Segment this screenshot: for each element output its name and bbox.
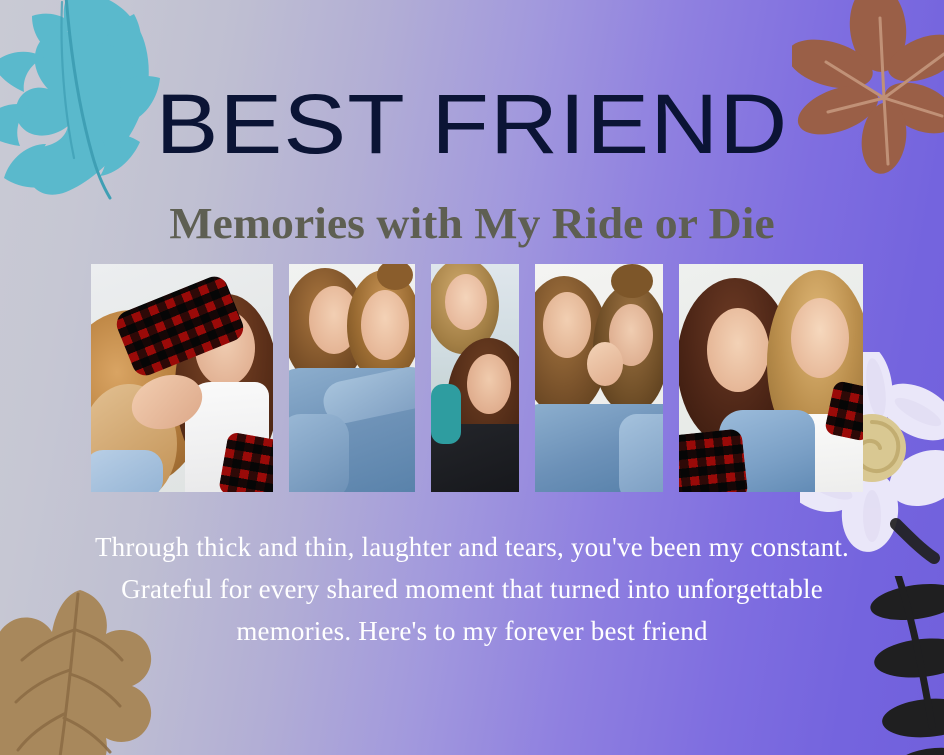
photo-item[interactable] xyxy=(431,264,519,492)
page-title: BEST FRIEND xyxy=(0,82,944,166)
photo-item[interactable] xyxy=(679,264,863,492)
photo-item[interactable] xyxy=(535,264,663,492)
photo-item[interactable] xyxy=(91,264,273,492)
stem-leaves-black-icon xyxy=(862,576,944,755)
photo-strip xyxy=(91,264,855,492)
body-paragraph: Through thick and thin, laughter and tea… xyxy=(72,526,872,652)
poster-canvas: BEST FRIEND Memories with My Ride or Die xyxy=(0,0,944,755)
page-subtitle: Memories with My Ride or Die xyxy=(0,200,944,248)
photo-item[interactable] xyxy=(289,264,415,492)
